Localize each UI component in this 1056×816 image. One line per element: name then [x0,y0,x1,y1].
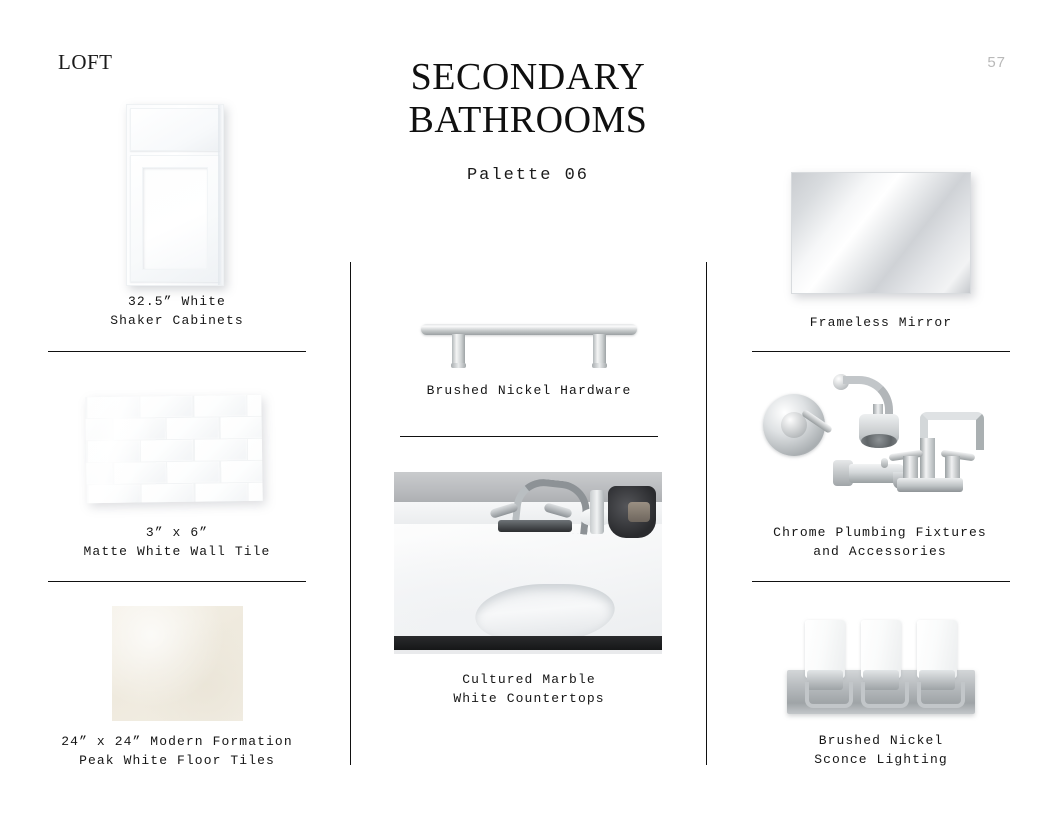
sconce-arm [861,682,909,708]
tile-unit [114,462,166,484]
tile-unit [141,440,193,462]
caption-line-1: Brushed Nickel Hardware [407,381,651,400]
design-board-page: LOFT 57 SECONDARY BATHROOMS Palette 06 3… [0,0,1056,816]
chrome-fixtures-swatch [755,368,995,500]
vanity-sconce-swatch [787,616,975,720]
tile-row [85,482,262,503]
caption-line-1: 3” x 6” [55,523,299,542]
showerhead-spray-face [861,434,897,448]
lav-faucet-column [920,438,935,482]
tile-unit [248,395,263,416]
tile-unit [85,441,86,463]
bar-pull-swatch [421,310,637,372]
tile-unit [142,484,194,503]
caption-cabinet-hardware: Brushed Nickel Hardware [407,381,651,400]
tile-unit [195,439,247,461]
caption-sconce-lighting: Brushed Nickel Sconce Lighting [759,731,1003,769]
photo-faucet-base [498,520,572,532]
divider-vertical-right [706,262,707,765]
caption-line-2: Shaker Cabinets [55,311,299,330]
tub-spout-diverter [881,458,888,468]
tile-unit [220,417,262,439]
cabinet-recessed-panel [142,167,208,270]
tile-unit [194,395,246,417]
caption-mirror: Frameless Mirror [759,313,1003,332]
tile-unit [221,461,263,483]
photo-bottle [590,490,604,534]
divider-left-2 [48,581,306,582]
tile-unit [87,440,139,462]
tile-unit [88,484,140,503]
caption-line-1: 24” x 24” Modern Formation [25,732,329,751]
divider-center-1 [400,436,658,437]
tile-unit [167,417,219,439]
lav-faucet-deck-plate [897,478,963,492]
caption-line-2: White Countertops [407,689,651,708]
tile-row [85,416,262,440]
caption-plumbing-fixtures: Chrome Plumbing Fixtures and Accessories [735,523,1025,561]
cabinet-door-front [130,155,220,282]
pull-foot [592,363,607,368]
tile-unit [195,483,247,503]
cultured-marble-photo [394,472,662,654]
caption-line-2: Peak White Floor Tiles [25,751,329,770]
caption-line-2: Sconce Lighting [759,750,1003,769]
pull-post-left [452,334,465,368]
divider-right-2 [752,581,1010,582]
caption-floor-tile: 24” x 24” Modern Formation Peak White Fl… [25,732,329,770]
tile-row [85,460,262,484]
page-title-line1: SECONDARY [411,56,646,98]
caption-countertops: Cultured Marble White Countertops [407,670,651,708]
tile-unit [85,463,112,485]
caption-line-2: and Accessories [735,542,1025,561]
cabinet-drawer-front [130,108,220,151]
caption-line-1: Chrome Plumbing Fixtures [735,523,1025,542]
cabinet-swatch [126,104,224,286]
tile-row [85,438,262,463]
divider-vertical-left [350,262,351,765]
sconce-arm [917,682,965,708]
caption-line-1: 32.5” White [55,292,299,311]
tile-row [85,395,262,419]
pull-post-right [593,334,606,368]
tile-unit [248,438,262,460]
divider-left-1 [48,351,306,352]
caption-line-1: Brushed Nickel [759,731,1003,750]
tile-unit [249,482,263,503]
subway-tile-swatch [85,395,262,503]
tile-unit [87,396,139,418]
cabinet-side-edge [218,105,223,285]
tile-unit [85,485,87,503]
photo-vanity-edge [394,636,662,650]
sconce-arm [805,682,853,708]
frameless-mirror-swatch [791,172,971,294]
tile-unit [167,461,219,483]
photo-towel-band [628,502,650,522]
caption-line-2: Matte White Wall Tile [55,542,299,561]
pull-foot [451,363,466,368]
floor-tile-swatch [112,606,243,721]
tile-unit [113,418,165,440]
caption-shaker-cabinets: 32.5” White Shaker Cabinets [55,292,299,330]
caption-line-1: Frameless Mirror [759,313,1003,332]
caption-wall-tile: 3” x 6” Matte White Wall Tile [55,523,299,561]
divider-right-1 [752,351,1010,352]
caption-line-1: Cultured Marble [407,670,651,689]
tile-unit [85,419,112,441]
tile-unit [140,396,192,418]
